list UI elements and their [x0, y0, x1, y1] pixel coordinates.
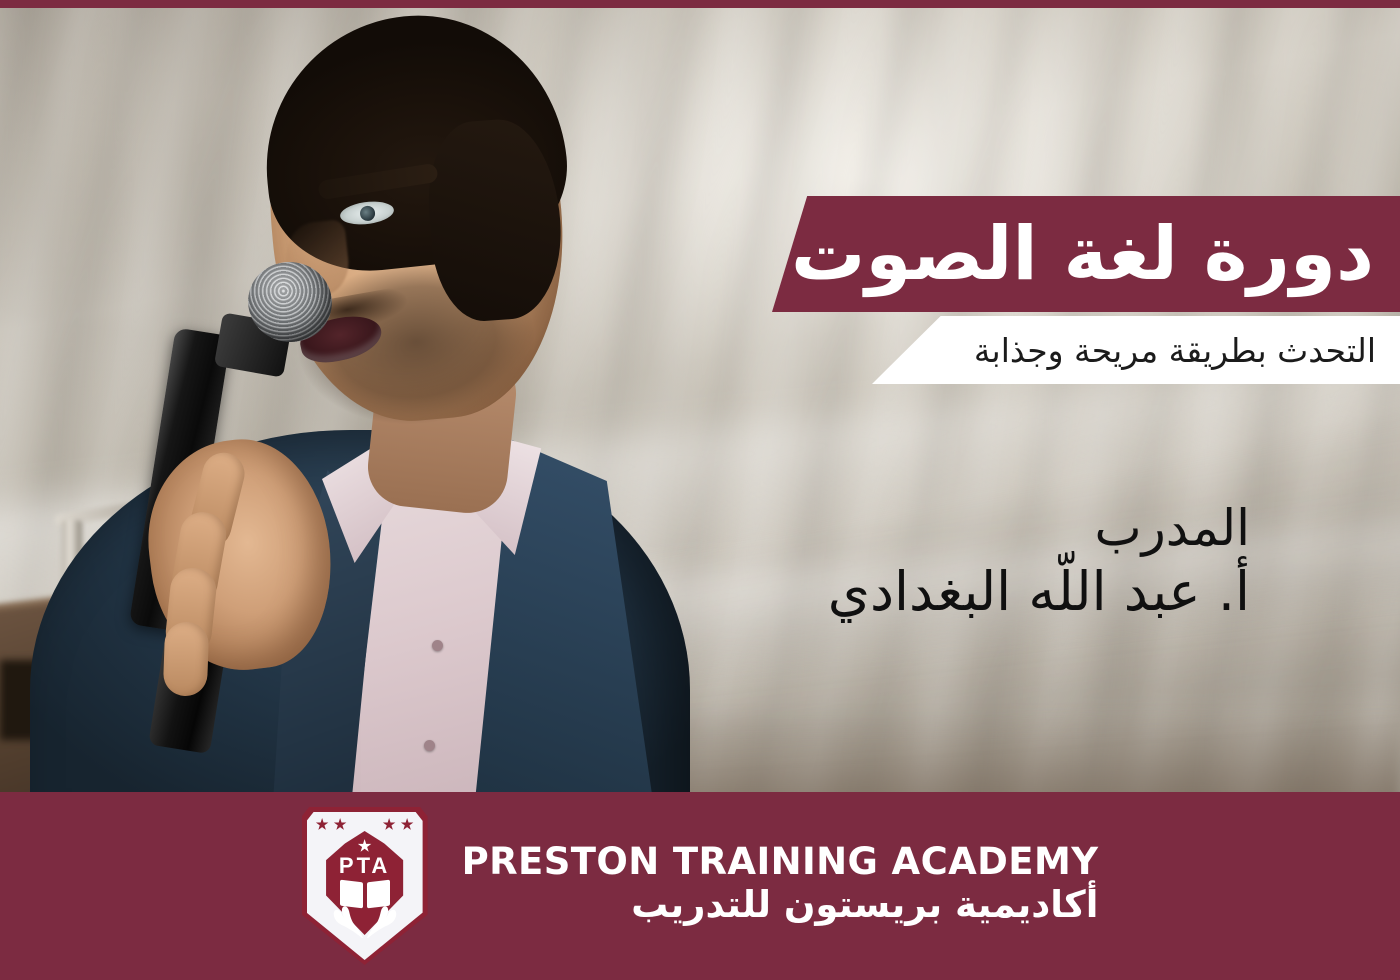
- course-title: دورة لغة الصوت: [772, 217, 1374, 291]
- brand-name-english: PRESTON TRAINING ACADEMY: [462, 843, 1099, 882]
- course-title-banner: دورة لغة الصوت: [772, 196, 1400, 312]
- shirt-button: [432, 640, 443, 651]
- speaker-pupil: [359, 205, 376, 222]
- speaker-figure: [0, 0, 760, 830]
- course-poster: دورة لغة الصوت التحدث بطريقة مريحة وجذاب…: [0, 0, 1400, 980]
- top-accent-strip: [0, 0, 1400, 8]
- star-icon: [334, 818, 347, 831]
- hands-icon: [332, 905, 398, 939]
- course-subtitle: التحدث بطريقة مريحة وجذابة: [872, 331, 1376, 370]
- star-pair-left: [383, 818, 414, 831]
- star-icon: [401, 818, 414, 831]
- speaker-finger: [163, 621, 210, 696]
- course-subtitle-banner: التحدث بطريقة مريحة وجذابة: [872, 316, 1400, 384]
- shirt-button: [424, 740, 435, 751]
- brand-lockup: PTA PRESTON TRAINING ACADEMY أكاديمية بر…: [0, 792, 1400, 980]
- pta-logo: PTA: [302, 807, 428, 965]
- trainer-role-label: المدرب: [828, 500, 1250, 556]
- star-icon: [383, 818, 396, 831]
- brand-name-arabic: أكاديمية بريستون للتدريب: [462, 886, 1099, 925]
- book-spine: [363, 882, 367, 907]
- trainer-block: المدرب أ. عبد اللّه البغدادي: [828, 500, 1250, 621]
- brand-text-block: PRESTON TRAINING ACADEMY أكاديمية بريستو…: [462, 843, 1099, 929]
- open-book-icon: [340, 881, 390, 907]
- logo-initials: PTA: [324, 853, 406, 879]
- star-pair-right: [316, 818, 347, 831]
- star-icon: [316, 818, 329, 831]
- logo-stars-row: [316, 818, 414, 831]
- trainer-name: أ. عبد اللّه البغدادي: [828, 562, 1250, 621]
- footer-brand-bar: مستقل mostaql.com: [0, 792, 1400, 980]
